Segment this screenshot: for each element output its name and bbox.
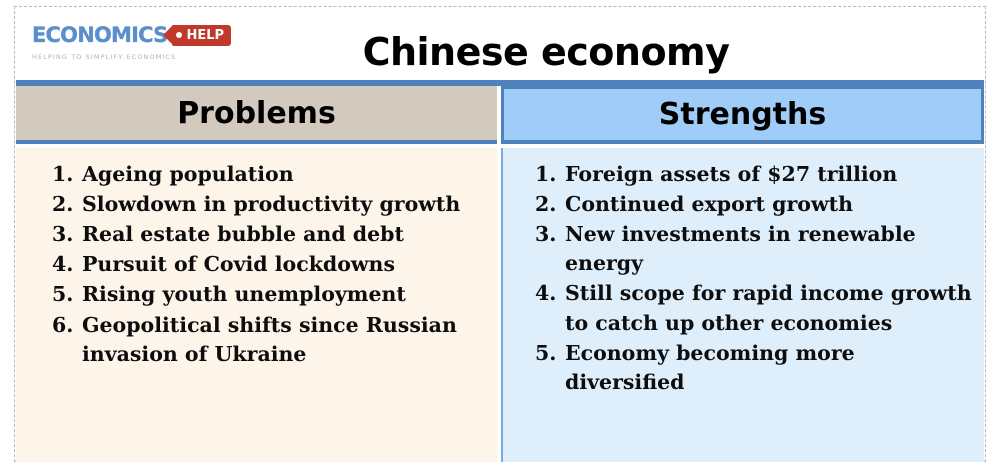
list-item: Rising youth unemployment (26, 280, 487, 309)
table-header-row: Problems Strengths (16, 86, 984, 144)
table-body-row: Ageing population Slowdown in productivi… (16, 148, 984, 462)
list-item: Slowdown in productivity growth (26, 190, 487, 219)
list-item: Geopolitical shifts since Russian invasi… (26, 311, 487, 369)
logo-wordmark-row: ECONOMICS HELP (32, 22, 222, 48)
problems-list: Ageing population Slowdown in productivi… (26, 160, 487, 369)
list-item: Foreign assets of $27 trillion (513, 160, 974, 189)
strengths-list: Foreign assets of $27 trillion Continued… (513, 160, 974, 397)
logo-tagline: HELPING TO SIMPLIFY ECONOMICS (32, 53, 222, 61)
list-item: New investments in renewable energy (513, 220, 974, 278)
column-body-problems: Ageing population Slowdown in productivi… (16, 148, 497, 462)
logo-help-label: HELP (186, 29, 224, 42)
column-header-strengths: Strengths (501, 86, 984, 144)
logo-wordmark: ECONOMICS (32, 25, 167, 46)
page-title: Chinese economy (246, 16, 846, 88)
list-item: Ageing population (26, 160, 487, 189)
slide: ECONOMICS HELP HELPING TO SIMPLIFY ECONO… (0, 0, 1000, 474)
comparison-table: Problems Strengths Ageing population Slo… (16, 80, 984, 462)
column-body-strengths: Foreign assets of $27 trillion Continued… (501, 148, 984, 462)
logo-help-tag: HELP (172, 25, 231, 46)
list-item: Still scope for rapid income growth to c… (513, 279, 974, 337)
title-bar: ECONOMICS HELP HELPING TO SIMPLIFY ECONO… (16, 8, 984, 80)
logo-dot-icon (176, 32, 182, 38)
list-item: Economy becoming more diversified (513, 339, 974, 397)
list-item: Pursuit of Covid lockdowns (26, 250, 487, 279)
economics-help-logo[interactable]: ECONOMICS HELP HELPING TO SIMPLIFY ECONO… (32, 22, 222, 66)
list-item: Continued export growth (513, 190, 974, 219)
column-header-problems: Problems (16, 86, 497, 144)
list-item: Real estate bubble and debt (26, 220, 487, 249)
